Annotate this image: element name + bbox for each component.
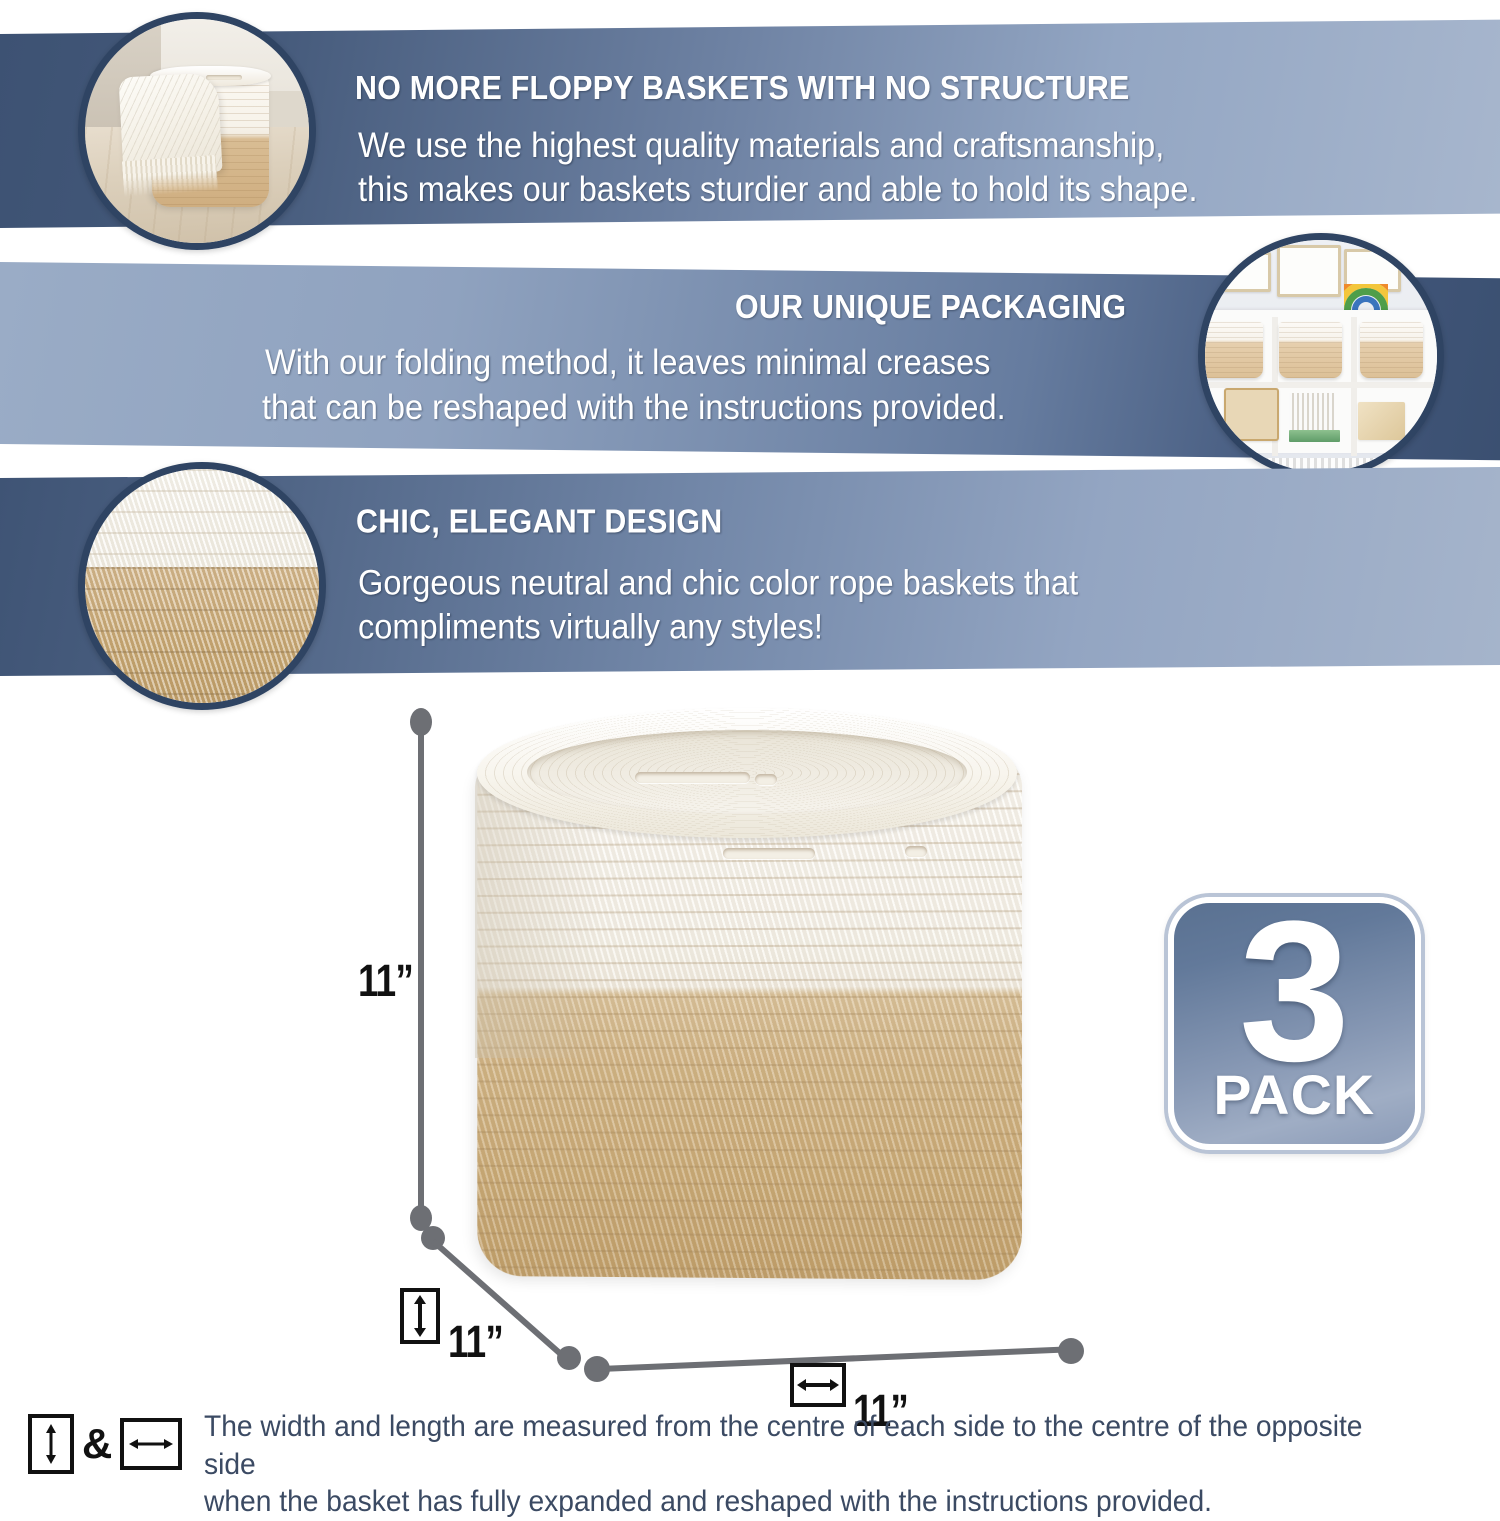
horizontal-arrow-icon <box>797 1376 839 1394</box>
feature-body-packaging-line1: With our folding method, it leaves minim… <box>265 342 990 385</box>
dimension-label-height: 11” <box>358 955 413 1007</box>
feature-body-packaging-line2: that can be reshaped with the instructio… <box>262 387 1006 430</box>
footnote-ampersand: & <box>82 1423 112 1465</box>
basket-handle-cutout <box>905 846 927 857</box>
basket-handle-cutout <box>635 772 750 783</box>
feature-body-design-line2: compliments virtually any styles! <box>358 607 823 650</box>
feature-image-playroom-shelf <box>1198 233 1444 479</box>
feature-heading-structure: NO MORE FLOPPY BASKETS WITH NO STRUCTURE <box>355 69 1130 107</box>
basket-handle-cutout <box>723 848 815 859</box>
dimension-endpoint-dot <box>1058 1338 1084 1364</box>
feature-body-design-line1: Gorgeous neutral and chic color rope bas… <box>358 563 1078 606</box>
pack-count-label: PACK <box>1214 1062 1376 1127</box>
dimension-label-depth: 11” <box>448 1316 503 1368</box>
depth-icon-box <box>400 1288 440 1344</box>
footnote-height-icon-box <box>28 1414 74 1474</box>
dimension-line-height <box>418 720 424 1218</box>
footnote-width-icon-box <box>120 1418 182 1470</box>
horizontal-arrow-icon <box>129 1436 173 1452</box>
pack-count-badge: 3 PACK <box>1168 897 1421 1150</box>
footnote-line1: The width and length are measured from t… <box>204 1408 1401 1483</box>
feature-body-structure-line2: this makes our baskets sturdier and able… <box>358 169 1198 212</box>
product-image-basket <box>455 700 1040 1300</box>
basket-handle-cutout <box>755 774 777 785</box>
feature-heading-packaging: OUR UNIQUE PACKAGING <box>735 288 1126 326</box>
measurement-footnote: & The width and length are measured from… <box>28 1408 1478 1521</box>
dimension-endpoint-dot <box>557 1346 581 1370</box>
vertical-arrow-icon <box>43 1424 59 1464</box>
rainbow-toy-icon <box>1344 284 1388 310</box>
width-icon-box <box>790 1363 846 1407</box>
feature-heading-design: CHIC, ELEGANT DESIGN <box>356 503 722 541</box>
feature-image-rope-texture <box>78 462 326 710</box>
feature-body-structure-line1: We use the highest quality materials and… <box>358 125 1164 168</box>
vertical-arrow-icon <box>411 1295 429 1337</box>
feature-image-basket-with-throw <box>78 12 316 250</box>
footnote-line2: when the basket has fully expanded and r… <box>204 1483 1401 1521</box>
pack-count-number: 3 <box>1239 914 1350 1070</box>
